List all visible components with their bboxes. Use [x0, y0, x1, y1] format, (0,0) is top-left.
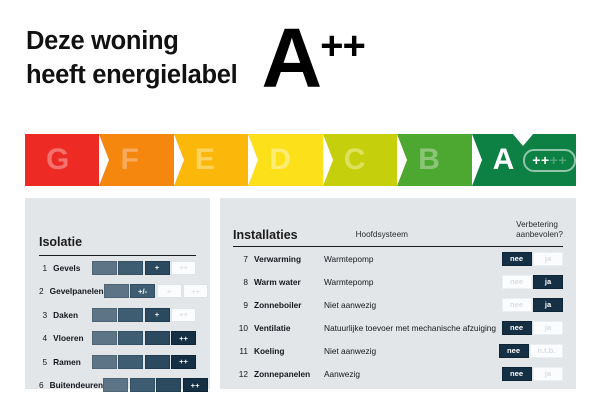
rating-cell-filled — [92, 261, 117, 275]
toggle-option-nee[interactable]: nee — [502, 321, 532, 335]
toggle-option-nee[interactable]: nee — [502, 367, 532, 381]
row-label: Verwarming — [254, 254, 324, 264]
rating-cell-filled — [145, 355, 170, 369]
rating-cells: ++ — [92, 355, 197, 369]
energy-bar-letter-b: B — [418, 145, 440, 175]
toggle-option-ja[interactable]: ja — [533, 367, 563, 381]
isolatie-row: 5Ramen++ — [39, 350, 196, 374]
row-number: 2 — [39, 286, 44, 296]
toggle-option-nee[interactable]: nee — [499, 344, 529, 358]
installaties-row: 10VentilatieNatuurlijke toevoer met mech… — [233, 316, 563, 339]
installaties-row-list: 7VerwarmingWarmtepompneeja8Warm waterWar… — [233, 247, 563, 385]
installaties-panel: Installaties Hoofdsysteem Verbetering aa… — [220, 198, 576, 389]
row-number: 5 — [39, 357, 47, 367]
toggle-option-ja[interactable]: ja — [533, 252, 563, 266]
rating-cell-filled: ++ — [171, 355, 196, 369]
isolatie-row: 6Buitendeuren++ — [39, 374, 196, 398]
improvement-toggle: neeja — [502, 252, 564, 266]
installaties-row: 11KoelingNiet aanwezigneen.t.b. — [233, 339, 563, 362]
energy-bar-segment-b: B — [397, 134, 471, 186]
improvement-toggle: neeja — [502, 275, 564, 289]
improvement-toggle: neeja — [502, 321, 564, 335]
row-label: Ventilatie — [254, 323, 324, 333]
row-label: Zonnepanelen — [254, 369, 324, 379]
current-grade-pointer-icon — [512, 133, 534, 146]
energy-bar-letter-g: G — [46, 145, 69, 175]
rating-cell-filled — [92, 331, 117, 345]
energy-bar-letter-e: E — [195, 145, 215, 175]
energy-bar-segment-f: F — [99, 134, 173, 186]
rating-cell-filled — [104, 284, 129, 298]
row-system-value: Warmtepomp — [324, 254, 502, 264]
energy-bar-segment-d: D — [248, 134, 322, 186]
isolatie-row: 2Gevelpanelen+/-+++ — [39, 280, 196, 304]
plus-active: ++ — [532, 153, 549, 167]
row-label: Zonneboiler — [254, 300, 324, 310]
energy-bar-letter-f: F — [120, 145, 138, 175]
toggle-option-ja[interactable]: ja — [533, 298, 563, 312]
row-number: 6 — [39, 380, 44, 390]
rating-cell-filled: + — [145, 308, 170, 322]
row-system-value: Natuurlijke toevoer met mechanische afzu… — [324, 323, 502, 333]
plus-inactive: ++ — [550, 153, 567, 167]
rating-cells: +/-+++ — [104, 284, 209, 298]
rating-cell-filled: +/- — [130, 284, 155, 298]
row-number: 10 — [233, 323, 248, 333]
rating-cell-filled — [118, 308, 143, 322]
row-system-value: Aanwezig — [324, 369, 502, 379]
rating-cell-filled — [92, 355, 117, 369]
rating-cell-empty: + — [157, 284, 182, 298]
isolatie-title: Isolatie — [39, 235, 82, 249]
energy-bar-letter-d: D — [269, 145, 291, 175]
row-number: 1 — [39, 263, 47, 273]
row-label: Ramen — [53, 357, 91, 367]
rating-cell-filled: ++ — [171, 331, 196, 345]
row-number: 4 — [39, 333, 47, 343]
energy-grade-plus: ++ — [320, 26, 365, 66]
isolatie-row: 3Daken+++ — [39, 303, 196, 327]
rating-cells: +++ — [92, 261, 197, 275]
row-number: 11 — [233, 346, 248, 356]
column-header-hoofdsysteem: Hoofdsysteem — [356, 230, 408, 242]
rating-cell-empty: ++ — [171, 308, 196, 322]
rating-cells: ++ — [92, 331, 197, 345]
isolatie-header: Isolatie — [39, 213, 196, 249]
toggle-option-nee[interactable]: nee — [502, 298, 532, 312]
rating-cell-filled — [118, 261, 143, 275]
row-number: 12 — [233, 369, 248, 379]
row-label: Vloeren — [53, 333, 91, 343]
rating-cell-empty: ++ — [171, 261, 196, 275]
row-number: 3 — [39, 310, 47, 320]
toggle-option-nee[interactable]: nee — [502, 252, 532, 266]
row-number: 9 — [233, 300, 248, 310]
improvement-toggle: neen.t.b. — [499, 344, 564, 358]
isolatie-panel: Isolatie 1Gevels+++2Gevelpanelen+/-+++3D… — [25, 198, 210, 389]
installaties-header: Installaties Hoofdsysteem Verbetering aa… — [233, 206, 563, 242]
rating-cell-filled: + — [145, 261, 170, 275]
isolatie-row: 1Gevels+++ — [39, 256, 196, 280]
row-system-value: Niet aanwezig — [324, 346, 499, 356]
toggle-option-ja[interactable]: ja — [533, 321, 563, 335]
energy-bar-plus-pill: ++++ — [523, 149, 576, 172]
rating-cell-filled — [103, 378, 128, 392]
column-header-verbetering: Verbetering aanbevolen? — [516, 220, 563, 242]
rating-cell-filled — [92, 308, 117, 322]
rating-cells: +++ — [92, 308, 197, 322]
installaties-row: 8Warm waterWarmtepompneeja — [233, 270, 563, 293]
rating-cell-filled — [145, 331, 170, 345]
page-title: Deze woning heeft energielabel — [26, 22, 237, 93]
rating-cell-filled — [130, 378, 155, 392]
improvement-toggle: neeja — [502, 367, 564, 381]
rating-cell-filled — [156, 378, 181, 392]
rating-cell-filled: ++ — [183, 378, 208, 392]
row-label: Koeling — [254, 346, 324, 356]
isolatie-row-list: 1Gevels+++2Gevelpanelen+/-+++3Daken+++4V… — [39, 256, 196, 397]
toggle-option-nee[interactable]: nee — [502, 275, 532, 289]
installaties-row: 7VerwarmingWarmtepompneeja — [233, 247, 563, 270]
installaties-title: Installaties — [233, 228, 298, 242]
energy-grade-letter: A — [261, 22, 320, 96]
rating-cell-filled — [118, 355, 143, 369]
row-system-value: Warmtepomp — [324, 277, 502, 287]
energy-label-bar: GFEDCBA++++ — [25, 134, 576, 186]
installaties-row: 12ZonnepanelenAanwezigneeja — [233, 362, 563, 385]
page-header: Deze woning heeft energielabel A ++ — [0, 0, 600, 122]
energy-bar-letter-c: C — [344, 145, 366, 175]
energy-bar-segment-g: G — [25, 134, 99, 186]
rating-cell-filled — [118, 331, 143, 345]
toggle-option-ntb[interactable]: n.t.b. — [530, 344, 563, 358]
row-label: Warm water — [254, 277, 324, 287]
row-label: Gevelpanelen — [50, 286, 104, 296]
row-number: 7 — [233, 254, 248, 264]
energy-bar-segment-a: A++++ — [472, 134, 576, 186]
energy-bar-segment-e: E — [174, 134, 248, 186]
energy-grade-display: A ++ — [261, 22, 364, 96]
rating-cell-empty: ++ — [183, 284, 208, 298]
installaties-row: 9ZonneboilerNiet aanwezigneeja — [233, 293, 563, 316]
energy-bar-letter-a: A — [493, 145, 515, 175]
row-label: Daken — [53, 310, 91, 320]
improvement-toggle: neeja — [502, 298, 564, 312]
row-number: 8 — [233, 277, 248, 287]
isolatie-row: 4Vloeren++ — [39, 327, 196, 351]
energy-bar-segment-c: C — [323, 134, 397, 186]
toggle-option-ja[interactable]: ja — [533, 275, 563, 289]
row-label: Gevels — [53, 263, 91, 273]
row-label: Buitendeuren — [50, 380, 103, 390]
row-system-value: Niet aanwezig — [324, 300, 502, 310]
rating-cells: ++ — [103, 378, 208, 392]
